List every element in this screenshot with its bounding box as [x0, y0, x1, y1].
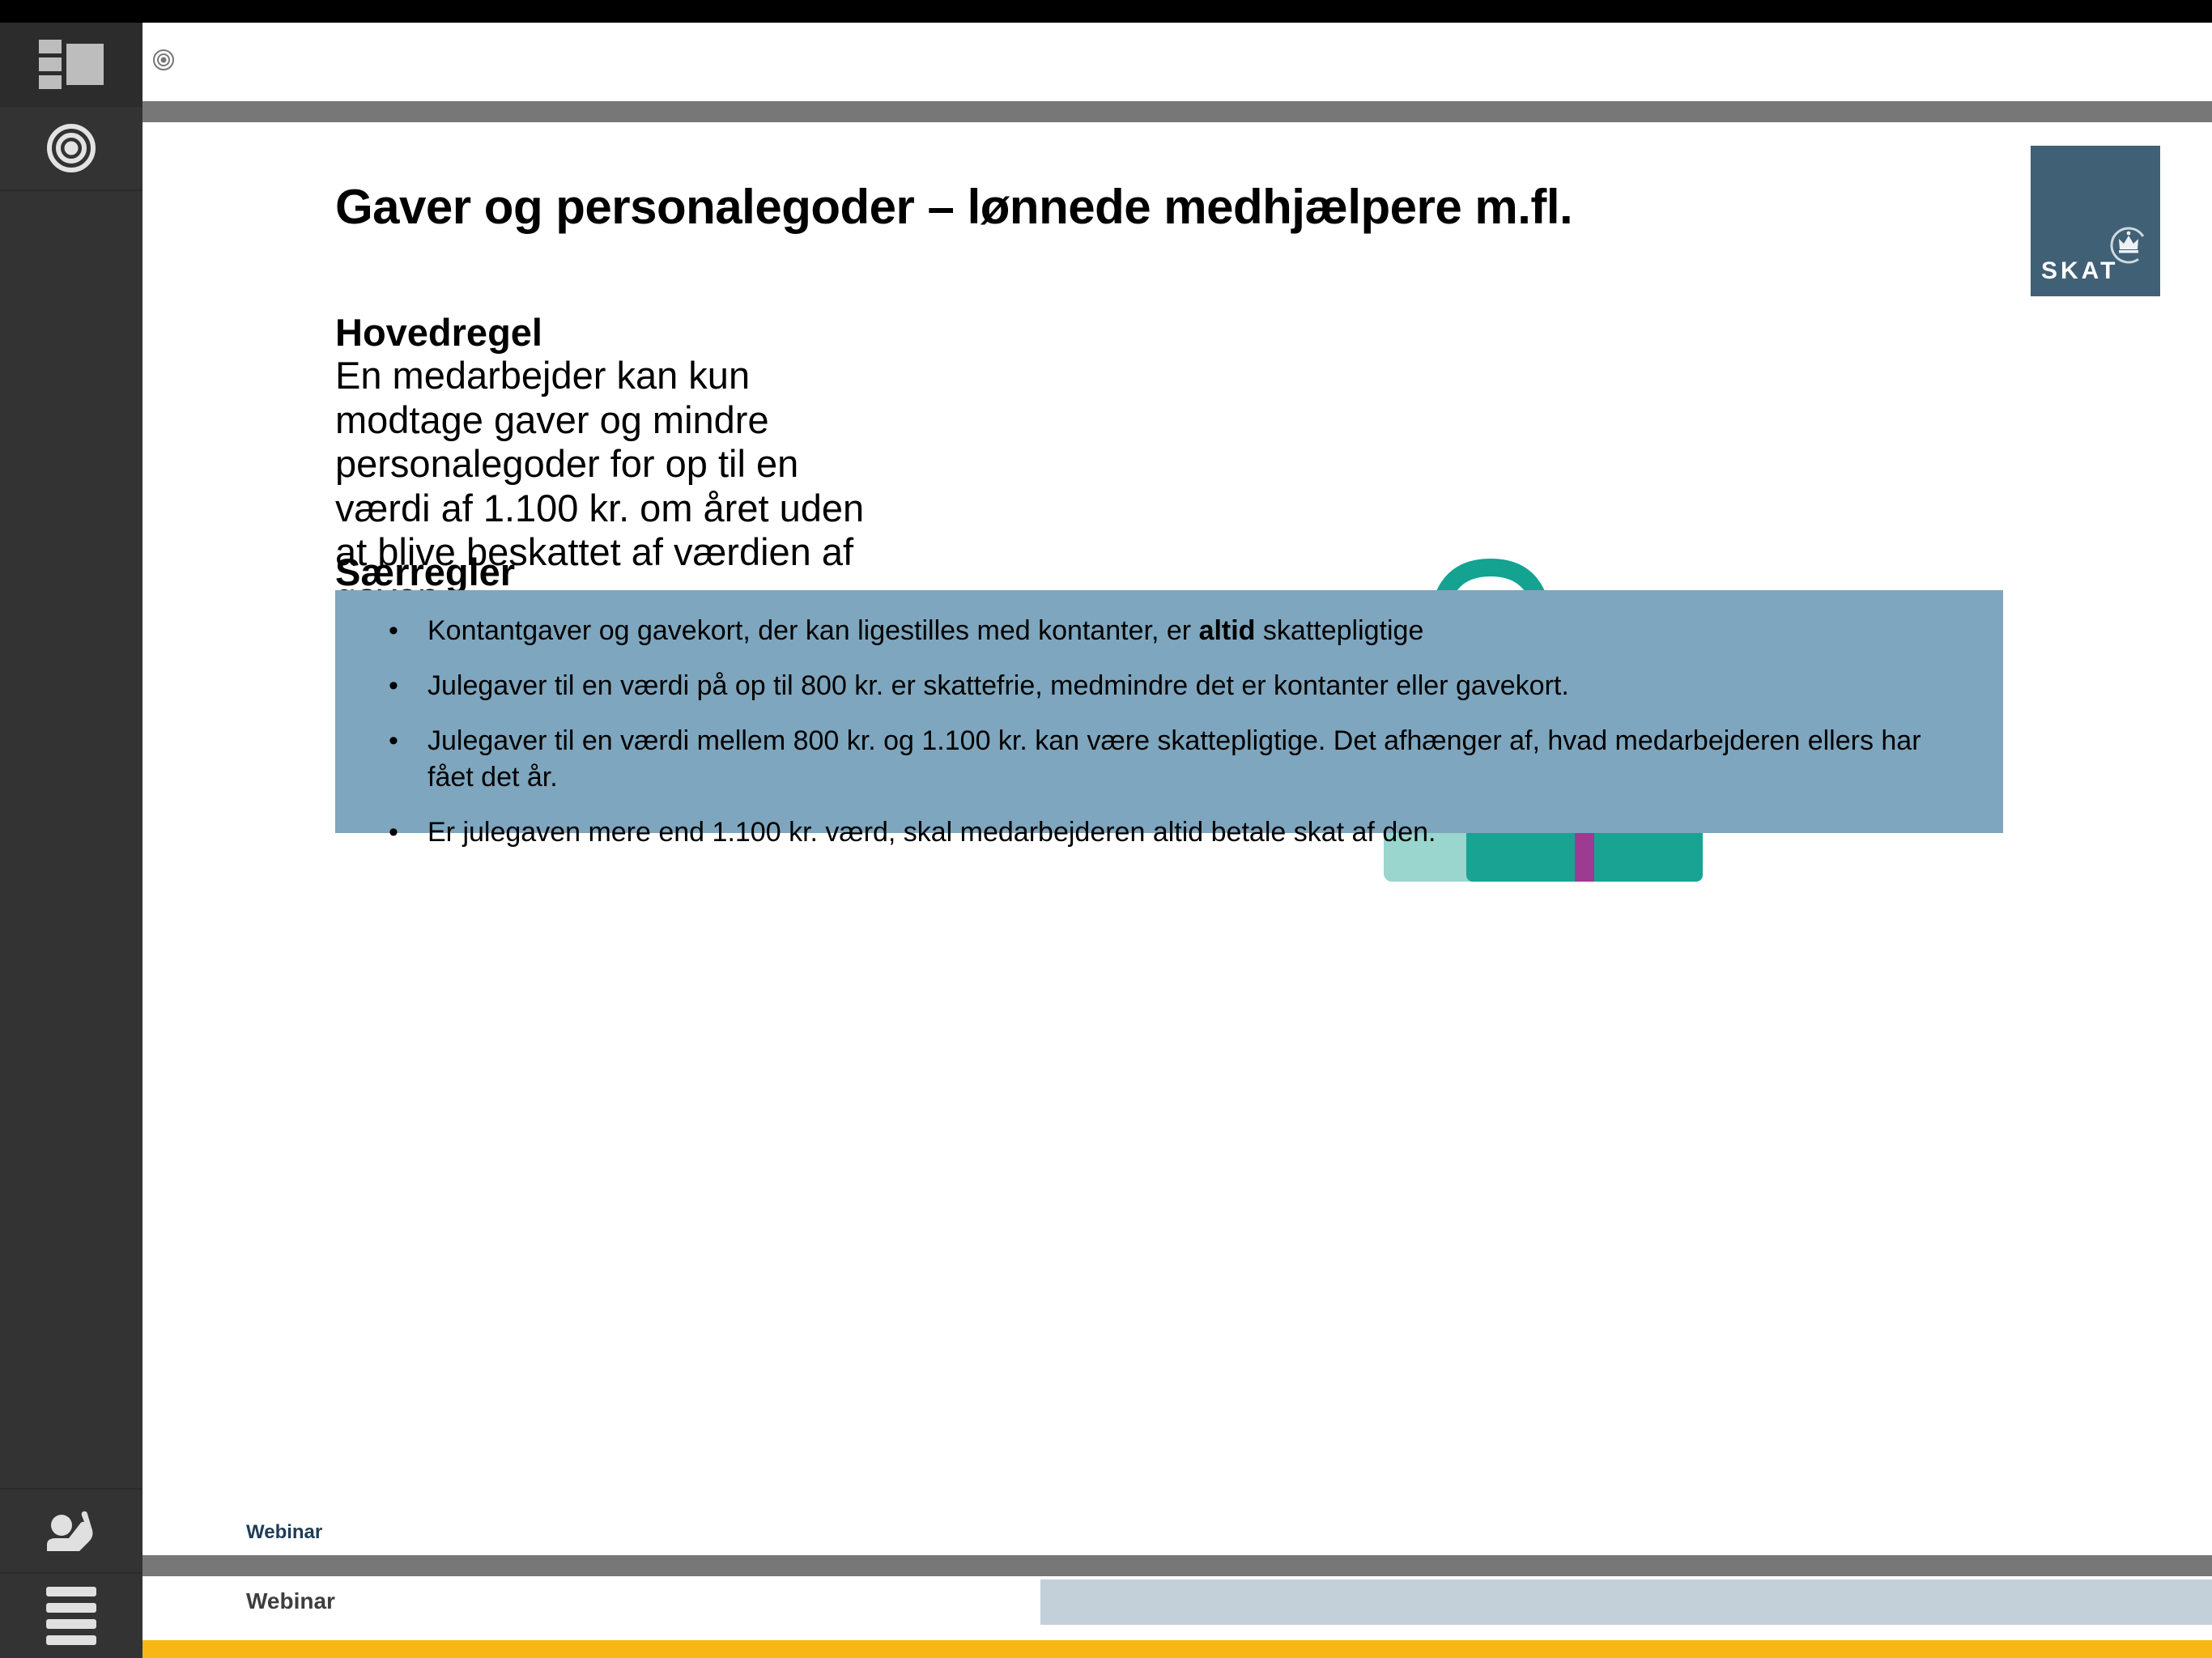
- main-content-pane: SKAT Gaver og personalegoder – lønnede m…: [143, 23, 2212, 1658]
- bullet-text: Julegaver til en værdi på op til 800 kr.…: [428, 668, 1971, 704]
- bullet-marker: •: [381, 814, 428, 850]
- layout-panel-icon: [39, 40, 104, 89]
- saerregler-panel: • Kontantgaver og gavekort, der kan lige…: [335, 590, 2003, 833]
- bullet-marker: •: [381, 668, 428, 704]
- skat-logo: SKAT: [2031, 146, 2160, 296]
- saerregler-heading: Særregler: [335, 550, 515, 594]
- bullet-text: Er julegaven mere end 1.100 kr. værd, sk…: [428, 814, 1971, 850]
- sidebar-item-raise-hand[interactable]: [0, 1490, 143, 1574]
- divider-top: [143, 101, 2212, 122]
- hamburger-menu-icon: [46, 1587, 96, 1645]
- bullet-text: Kontantgaver og gavekort, der kan ligest…: [428, 613, 1971, 648]
- divider-bottom: [143, 1555, 2212, 1576]
- list-item: • Julegaver til en værdi på op til 800 k…: [381, 668, 1971, 704]
- application-window: SKAT Gaver og personalegoder – lønnede m…: [0, 0, 2212, 1658]
- target-icon[interactable]: [152, 49, 175, 71]
- hovedregel-heading: Hovedregel: [335, 310, 542, 355]
- sidebar-item-spotlight-focus[interactable]: [0, 107, 143, 191]
- status-bar-label: Webinar: [246, 1588, 335, 1614]
- accent-bar: [143, 1640, 2212, 1658]
- presentation-slide: SKAT Gaver og personalegoder – lønnede m…: [143, 122, 2212, 1555]
- skat-wordmark: SKAT: [2041, 257, 2118, 285]
- list-item: • Er julegaven mere end 1.100 kr. værd, …: [381, 814, 1971, 850]
- bullet-text-pre: Kontantgaver og gavekort, der kan ligest…: [428, 615, 1199, 646]
- sidebar-item-menu[interactable]: [0, 1574, 143, 1658]
- target-icon: [45, 122, 97, 174]
- slide-footer-label: Webinar: [246, 1521, 322, 1544]
- bullet-text-bold: altid: [1199, 615, 1256, 646]
- bullet-marker: •: [381, 723, 428, 759]
- top-ribbon: [143, 23, 2212, 101]
- left-toolbar: [0, 23, 143, 1658]
- status-bar: Webinar: [143, 1576, 2212, 1658]
- list-item: • Kontantgaver og gavekort, der kan lige…: [381, 613, 1971, 648]
- bullet-text-post: skattepligtige: [1255, 615, 1423, 646]
- bullet-text: Julegaver til en værdi mellem 800 kr. og…: [428, 723, 1971, 794]
- raise-hand-icon: [42, 1506, 100, 1556]
- list-item: • Julegaver til en værdi mellem 800 kr. …: [381, 723, 1971, 794]
- page-title: Gaver og personalegoder – lønnede medhjæ…: [335, 179, 2003, 235]
- sidebar-item-layout-view[interactable]: [0, 23, 143, 107]
- sidebar-spacer: [0, 191, 143, 1490]
- bullet-marker: •: [381, 613, 428, 648]
- progress-track[interactable]: [1040, 1579, 2212, 1625]
